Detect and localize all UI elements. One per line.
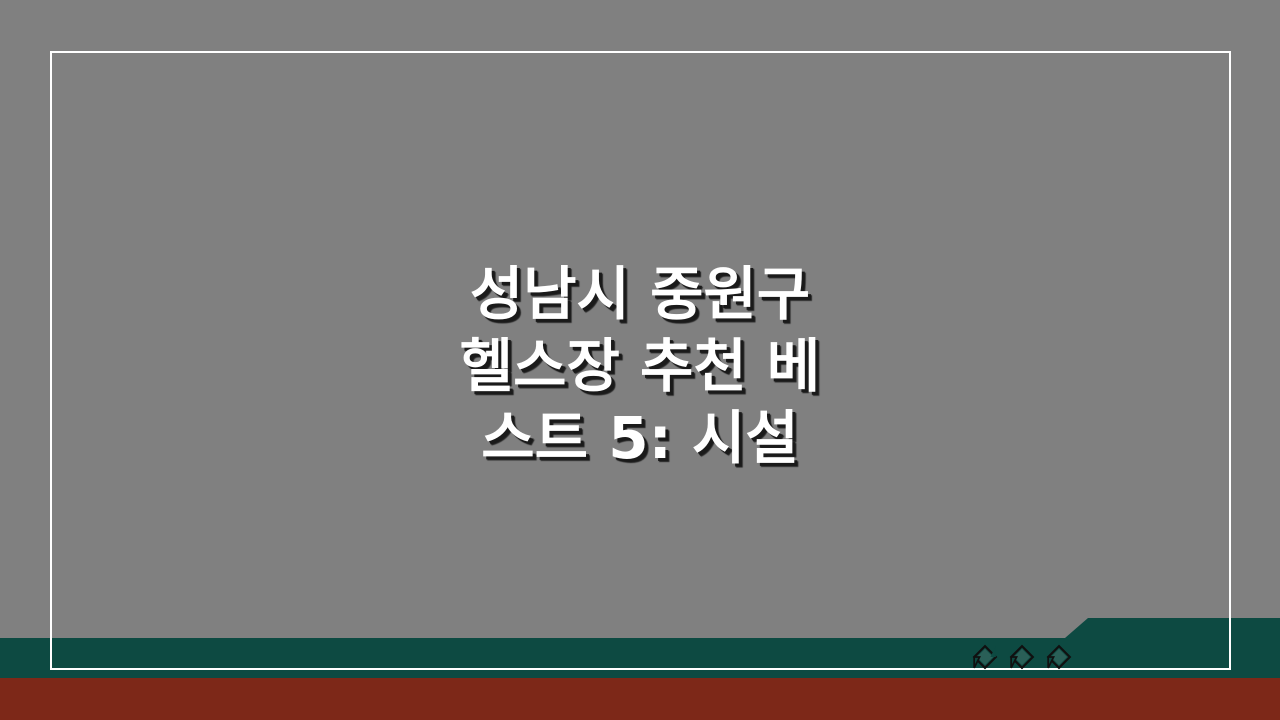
footer-teal-shape — [0, 600, 1280, 678]
footer-ornament-group — [972, 643, 1072, 671]
diamond-ornament-icon — [1046, 644, 1072, 670]
footer-teal-band — [0, 600, 1280, 678]
title-line-2: 헬스장 추천 베 — [0, 330, 1280, 402]
title-line-1: 성남시 중원구 — [0, 258, 1280, 330]
footer-red-band — [0, 678, 1280, 720]
diamond-ornament-icon — [1009, 644, 1035, 670]
diamond-ornament-icon — [972, 644, 998, 670]
title-slide: 성남시 중원구 헬스장 추천 베 스트 5: 시설 — [0, 0, 1280, 720]
title-line-3: 스트 5: 시설 — [0, 402, 1280, 474]
page-title: 성남시 중원구 헬스장 추천 베 스트 5: 시설 — [0, 258, 1280, 474]
